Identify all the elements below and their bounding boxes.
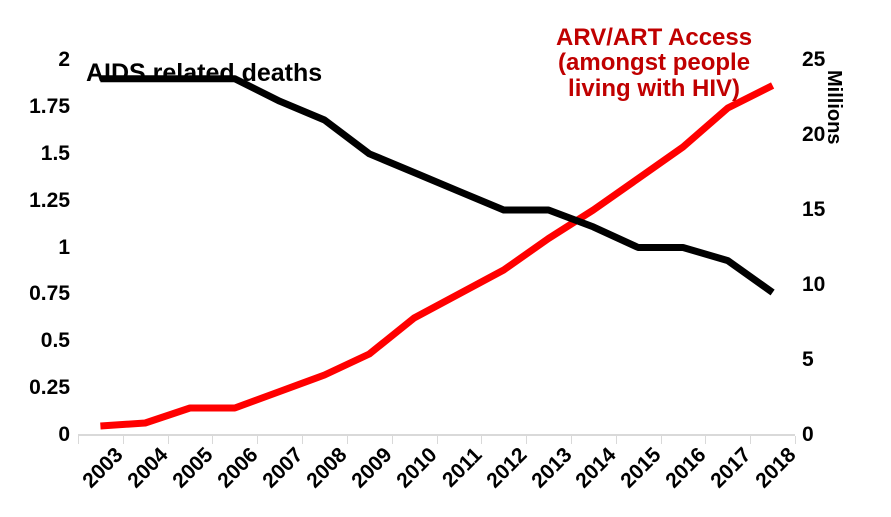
right-axis-tick-label: 15 [802, 199, 825, 220]
x-axis-tick [302, 436, 303, 444]
left-axis-tick-label: 2 [58, 49, 70, 70]
x-axis-tick [437, 436, 438, 444]
left-axis-tick-label: 1 [58, 237, 70, 258]
right-axis-tick-label: 25 [802, 49, 825, 70]
chart-container: 21.751.51.2510.750.50.250 2520151050 Mil… [0, 0, 891, 517]
x-axis-ticks [78, 436, 795, 444]
x-axis-tick [705, 436, 706, 444]
left-axis-tick-label: 0.25 [29, 377, 70, 398]
x-axis-tick [661, 436, 662, 444]
right-axis-tick-label: 0 [802, 424, 814, 445]
x-axis-tick-label: 2015 [611, 444, 665, 498]
arv-access-label: ARV/ART Access (amongst people living wi… [556, 25, 752, 101]
x-axis-tick-label: 2008 [297, 444, 351, 498]
x-axis-tick-label: 2009 [342, 444, 396, 498]
right-axis-title: Millions [822, 70, 845, 144]
x-axis-tick-label: 2003 [73, 444, 127, 498]
x-axis-tick [571, 436, 572, 444]
x-axis-tick [526, 436, 527, 444]
x-axis-tick [212, 436, 213, 444]
x-axis-tick-label: 2013 [521, 444, 575, 498]
arv-access-line [100, 86, 772, 427]
x-axis-tick-label: 2006 [207, 444, 261, 498]
x-axis-labels: 2003200420052006200720082009201020112012… [78, 444, 795, 514]
x-axis-tick [392, 436, 393, 444]
x-axis-tick-label: 2005 [162, 444, 216, 498]
right-axis-tick-label: 5 [802, 349, 814, 370]
x-axis-tick-label: 2014 [566, 444, 620, 498]
aids-deaths-label: AIDS related deaths [86, 60, 322, 87]
x-axis-tick-label: 2007 [252, 444, 306, 498]
plot-area [78, 60, 795, 435]
x-axis-tick [616, 436, 617, 444]
x-axis-tick [123, 436, 124, 444]
x-axis-tick-label: 2018 [745, 444, 799, 498]
x-axis-tick [481, 436, 482, 444]
x-axis-tick [795, 436, 796, 444]
x-axis-tick [168, 436, 169, 444]
x-axis-tick [347, 436, 348, 444]
right-axis-tick-label: 10 [802, 274, 825, 295]
x-axis-tick-label: 2012 [476, 444, 530, 498]
left-axis-tick-label: 0 [58, 424, 70, 445]
left-axis-tick-label: 0.5 [41, 330, 70, 351]
x-axis-tick-label: 2004 [118, 444, 172, 498]
x-axis-tick [750, 436, 751, 444]
left-axis-tick-label: 0.75 [29, 283, 70, 304]
left-axis: 21.751.51.2510.750.50.250 [0, 0, 70, 517]
left-axis-tick-label: 1.25 [29, 190, 70, 211]
series-canvas [78, 60, 795, 435]
x-axis-tick-label: 2011 [431, 444, 485, 498]
x-axis-tick-label: 2010 [386, 444, 440, 498]
x-axis-tick [257, 436, 258, 444]
left-axis-tick-label: 1.75 [29, 96, 70, 117]
x-axis-tick-label: 2016 [655, 444, 709, 498]
x-axis-tick [78, 436, 79, 444]
left-axis-tick-label: 1.5 [41, 143, 70, 164]
aids-deaths-line [100, 79, 772, 293]
x-axis-tick-label: 2017 [700, 444, 754, 498]
